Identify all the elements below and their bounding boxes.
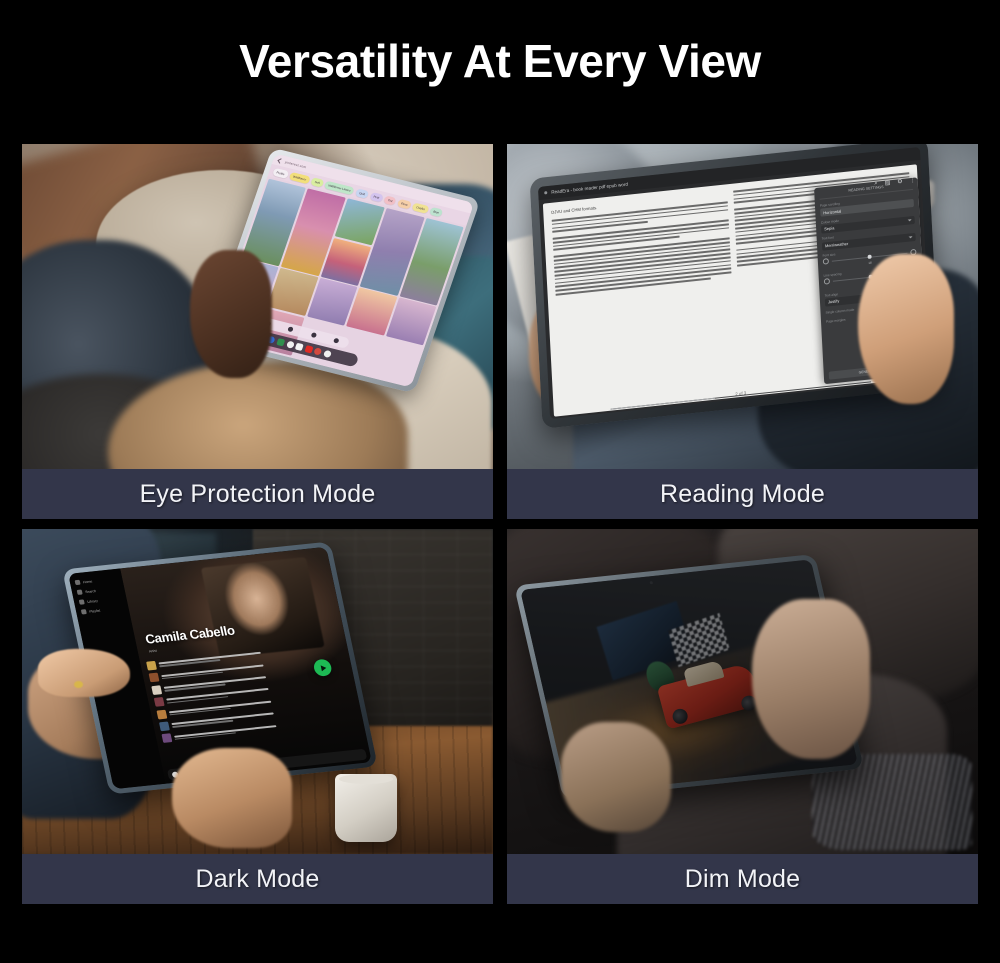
app-logo-icon xyxy=(544,191,547,194)
panel-caption-eye-protection: Eye Protection Mode xyxy=(22,469,493,519)
filter-chip[interactable]: Profile xyxy=(272,167,289,178)
panel-eye-protection: pinterest.com Profile Wildflower Soft Wi… xyxy=(22,144,493,519)
track-list[interactable] xyxy=(146,650,277,744)
setting-value-text: Justify xyxy=(828,299,840,305)
album-cover xyxy=(159,721,170,731)
gold-ring xyxy=(74,681,83,688)
assistant-app-icon[interactable] xyxy=(323,350,332,358)
chevron-down-icon[interactable] xyxy=(909,236,913,238)
more-icon[interactable] xyxy=(333,338,339,344)
sidebar-item-playlist[interactable]: Playlist xyxy=(81,605,124,614)
playlist-icon xyxy=(81,609,87,614)
panel-dim: Dim Mode xyxy=(507,529,978,904)
front-camera xyxy=(649,581,653,584)
library-icon xyxy=(79,599,85,604)
sidebar-item-label: Playlist xyxy=(89,608,101,613)
artist-subtitle: Artist xyxy=(149,649,158,654)
page-left[interactable]: DJVU and CHM formats. xyxy=(551,191,737,409)
artist-photo xyxy=(201,557,325,658)
supporting-hand xyxy=(172,748,292,848)
setting-value-text: Sepia xyxy=(824,226,834,232)
filter-chip[interactable]: Tint xyxy=(384,195,397,205)
page-title: Versatility At Every View xyxy=(0,34,1000,88)
decrease-icon[interactable] xyxy=(824,278,830,285)
setting-value-text: Horizontal xyxy=(823,208,841,215)
album-cover xyxy=(156,709,167,719)
photo-reading-scene: ReadEra - book reader pdf epub word DJVU… xyxy=(507,144,978,469)
toggle-label: Page margins xyxy=(826,318,846,324)
album-cover xyxy=(151,685,162,695)
filter-chip[interactable]: Petit xyxy=(369,191,383,202)
right-hand xyxy=(752,599,870,759)
filter-chip[interactable]: Quilt xyxy=(355,188,370,199)
promo-page: Versatility At Every View xyxy=(0,0,1000,963)
setting-value-text: Merriweather xyxy=(825,241,848,248)
slider-thumb[interactable] xyxy=(868,254,872,258)
panel-caption-reading: Reading Mode xyxy=(507,469,978,519)
left-hand xyxy=(561,722,671,832)
search-icon xyxy=(77,590,83,595)
sidebar-item-label: Search xyxy=(85,589,97,594)
pointing-finger xyxy=(38,649,130,697)
youtube-app-icon[interactable] xyxy=(304,345,313,353)
toggle-label: Single column mode xyxy=(825,308,854,315)
mode-panel-grid: pinterest.com Profile Wildflower Soft Wi… xyxy=(22,144,978,904)
coffee-mug xyxy=(335,774,397,842)
home-icon xyxy=(75,580,81,585)
album-cover xyxy=(162,734,173,744)
album-cover xyxy=(154,697,165,707)
edit-icon[interactable] xyxy=(310,332,316,338)
album-cover xyxy=(146,661,157,671)
back-arrow-icon[interactable] xyxy=(278,158,284,163)
sidebar-item-search[interactable]: Search xyxy=(77,586,120,595)
right-hand xyxy=(858,254,954,404)
photos-app-icon[interactable] xyxy=(295,343,304,351)
bookmark-icon[interactable]: ▤ xyxy=(885,179,891,187)
filter-chip[interactable]: Blue xyxy=(429,206,443,217)
filter-chip[interactable]: Flora xyxy=(397,198,412,209)
settings-icon[interactable]: ⚙ xyxy=(897,178,903,186)
camera-app-icon[interactable] xyxy=(314,347,323,355)
filter-chip[interactable]: Chalks xyxy=(412,202,429,213)
sidebar-item-home[interactable]: Home xyxy=(75,576,118,585)
panel-caption-dim: Dim Mode xyxy=(507,854,978,904)
chrome-app-icon[interactable] xyxy=(286,340,295,348)
panel-reading: ReadEra - book reader pdf epub word DJVU… xyxy=(507,144,978,519)
sidebar-item-label: Library xyxy=(87,598,98,603)
sidebar-item-label: Home xyxy=(83,579,93,584)
photo-dim-scene xyxy=(507,529,978,854)
panel-dark: Home Search Library xyxy=(22,529,493,904)
overflow-menu-icon[interactable]: ⋮ xyxy=(909,177,915,185)
messages-app-icon[interactable] xyxy=(276,338,285,346)
album-cover xyxy=(149,673,160,683)
decrease-icon[interactable] xyxy=(823,258,829,265)
photo-dark-scene: Home Search Library xyxy=(22,529,493,854)
search-icon[interactable]: ⌕ xyxy=(874,181,878,188)
search-icon[interactable] xyxy=(288,326,294,332)
panel-caption-dark: Dark Mode xyxy=(22,854,493,904)
filter-chip[interactable]: Soft xyxy=(311,177,325,187)
chevron-down-icon[interactable] xyxy=(908,219,912,221)
hand-holding-tablet xyxy=(190,250,272,378)
photo-eye-protection-scene: pinterest.com Profile Wildflower Soft Wi… xyxy=(22,144,493,469)
sidebar-item-library[interactable]: Library xyxy=(79,595,122,604)
